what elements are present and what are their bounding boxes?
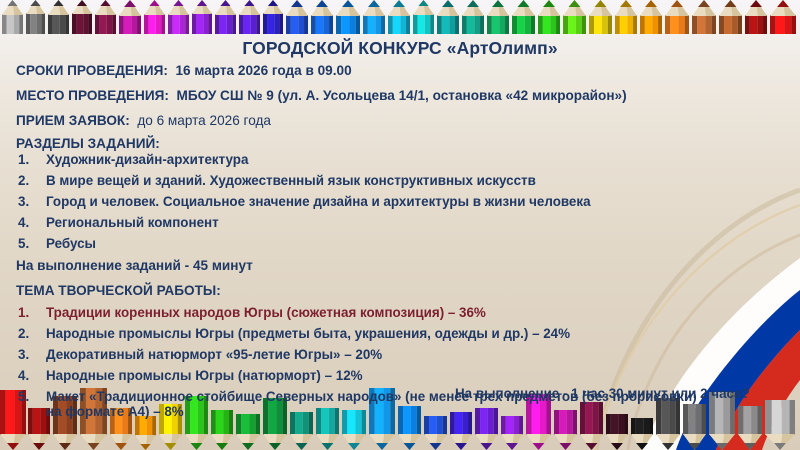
task-item-3: 3.Город и человек. Социальное значение д…: [18, 194, 591, 209]
theme-item-2: 2.Народные промыслы Югры (предметы быта,…: [18, 326, 570, 341]
venue-line: МЕСТО ПРОВЕДЕНИЯ: МБОУ СШ № 9 (ул. А. Ус…: [16, 88, 627, 104]
theme-number-4: 4.: [18, 368, 46, 383]
venue-value: МБОУ СШ № 9 (ул. А. Усольцева 14/1, оста…: [177, 88, 627, 103]
task-text-1: Художник-дизайн-архитектура: [46, 152, 248, 167]
tasks-heading: РАЗДЕЛЫ ЗАДАНИЙ:: [16, 136, 160, 152]
dates-line: СРОКИ ПРОВЕДЕНИЯ: 16 марта 2026 года в 0…: [16, 63, 352, 79]
tasks-duration: На выполнение заданий - 45 минут: [16, 258, 253, 274]
task-item-2: 2.В мире вещей и зданий. Художественный …: [18, 173, 536, 188]
task-item-1: 1.Художник-дизайн-архитектура: [18, 152, 248, 167]
task-text-4: Региональный компонент: [46, 215, 219, 230]
task-number-4: 4.: [18, 215, 46, 230]
task-text-2: В мире вещей и зданий. Художественный яз…: [46, 173, 536, 188]
task-number-5: 5.: [18, 236, 46, 251]
task-number-3: 3.: [18, 194, 46, 209]
theme-text-1: Традиции коренных народов Югры (сюжетная…: [46, 305, 486, 320]
task-number-2: 2.: [18, 173, 46, 188]
applications-label: ПРИЕМ ЗАЯВОК:: [16, 113, 130, 128]
theme-heading: ТЕМА ТВОРЧЕСКОЙ РАБОТЫ:: [16, 283, 221, 299]
presentation-slide: ГОРОДСКОЙ КОНКУРС «АртОлимп» СРОКИ ПРОВЕ…: [0, 0, 800, 450]
slide-content: ГОРОДСКОЙ КОНКУРС «АртОлимп» СРОКИ ПРОВЕ…: [0, 0, 800, 450]
applications-line: ПРИЕМ ЗАЯВОК: до 6 марта 2026 года: [16, 113, 271, 129]
task-text-3: Город и человек. Социальное значение диз…: [46, 194, 591, 209]
theme-number-3: 3.: [18, 347, 46, 362]
task-text-5: Ребусы: [46, 236, 96, 251]
applications-value: до 6 марта 2026 года: [137, 113, 271, 128]
theme-text-2: Народные промыслы Югры (предметы быта, у…: [46, 326, 570, 341]
dates-value: 16 марта 2026 года в 09.00: [175, 63, 351, 78]
theme-duration: На выполнение - 1 час 30 минут или 2 час…: [455, 386, 750, 401]
task-number-1: 1.: [18, 152, 46, 167]
theme-number-5: 5.: [18, 389, 46, 404]
theme-number-1: 1.: [18, 305, 46, 320]
theme-text-3: Декоративный натюрморт «95-летие Югры» –…: [46, 347, 382, 362]
dates-label: СРОКИ ПРОВЕДЕНИЯ:: [16, 63, 168, 78]
task-item-5: 5.Ребусы: [18, 236, 96, 251]
theme-item-4: 4.Народные промыслы Югры (натюрморт) – 1…: [18, 368, 363, 383]
page-title: ГОРОДСКОЙ КОНКУРС «АртОлимп»: [0, 38, 800, 59]
theme-item-1: 1.Традиции коренных народов Югры (сюжетн…: [18, 305, 486, 320]
theme-number-2: 2.: [18, 326, 46, 341]
theme-item-3: 3.Декоративный натюрморт «95-летие Югры»…: [18, 347, 382, 362]
task-item-4: 4.Региональный компонент: [18, 215, 219, 230]
venue-label: МЕСТО ПРОВЕДЕНИЯ:: [16, 88, 169, 103]
theme-text-4: Народные промыслы Югры (натюрморт) – 12%: [46, 368, 363, 383]
